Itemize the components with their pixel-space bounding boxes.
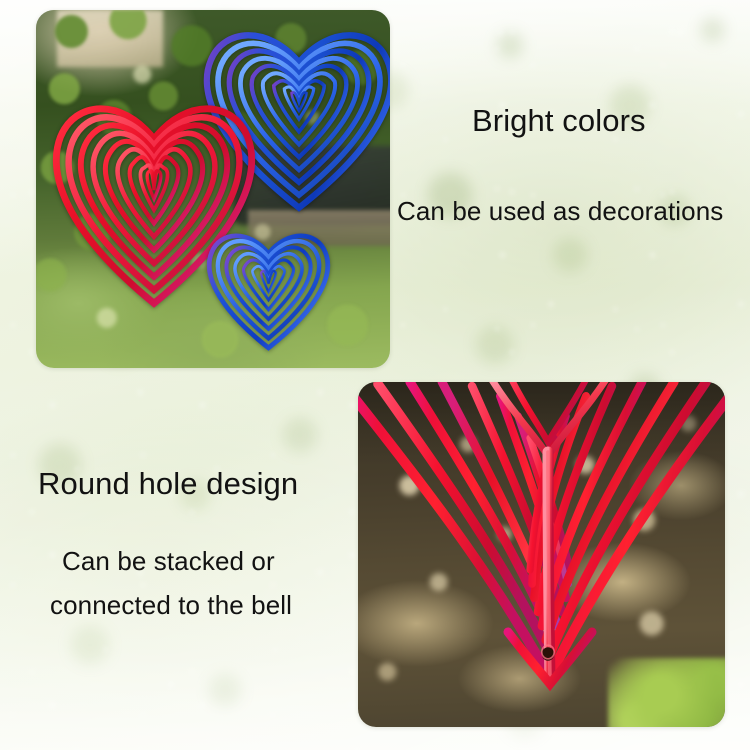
caption-round-hole-subtext-line1: Can be stacked or [62,546,275,577]
caption-bright-colors-subtext: Can be used as decorations [397,196,723,227]
red-heart-ribs-macro [358,382,725,727]
caption-bright-colors-heading: Bright colors [472,103,646,139]
caption-round-hole-subtext-line2: connected to the bell [50,590,292,621]
photo-round-hole-closeup [358,382,725,727]
caption-round-hole-heading: Round hole design [38,466,298,502]
product-feature-image: Bright colors Can be used as decorations… [0,0,750,750]
heart-spinner-blue-small [201,222,336,352]
photo-heart-spinners [36,10,390,368]
round-hole-detail [542,645,554,661]
